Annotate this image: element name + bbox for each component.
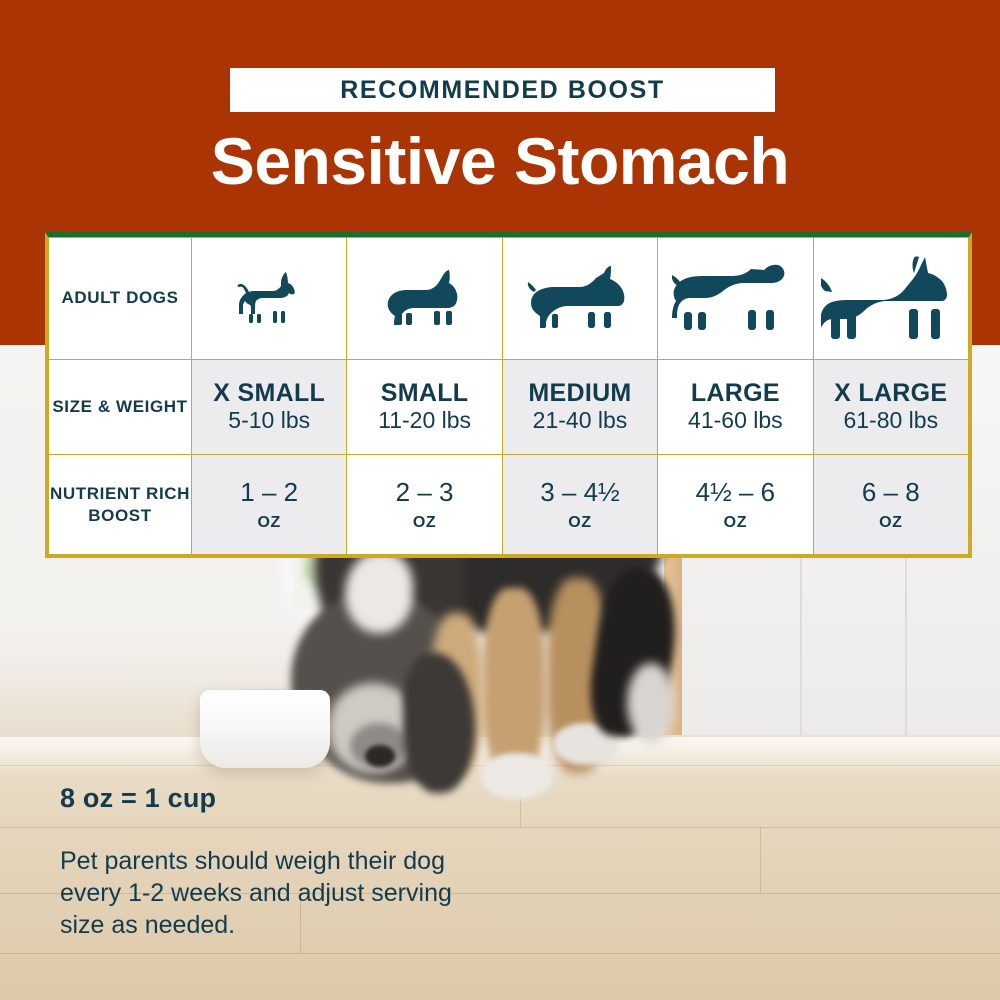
boost-unit: OZ [348, 514, 500, 532]
boost-cell-large: 4½ – 6 OZ [658, 455, 813, 555]
boost-amount: 1 – 2 [193, 478, 345, 507]
feeding-guide-infographic: RECOMMENDED BOOST Sensitive Stomach ADUL… [0, 0, 1000, 1000]
recommended-boost-badge: RECOMMENDED BOOST [230, 68, 775, 112]
table-row-adult-dogs: ADULT DOGS [49, 238, 969, 360]
boost-cell-xsmall: 1 – 2 OZ [192, 455, 347, 555]
size-cell-xsmall: X SMALL 5-10 lbs [192, 360, 347, 455]
size-weight: 11-20 lbs [348, 406, 500, 435]
row-label-nutrient-boost: NUTRIENT RICH BOOST [49, 455, 192, 555]
dog-xsmall-chihuahua-icon [235, 270, 303, 328]
dog-large-labrador-icon [672, 264, 798, 334]
dog-icon-cell-small [347, 238, 502, 360]
boost-unit: OZ [815, 514, 967, 532]
size-weight: 21-40 lbs [504, 406, 656, 435]
dog-icon-cell-xlarge [813, 238, 968, 360]
dog-icon-cell-xsmall [192, 238, 347, 360]
feeding-chart-table: ADULT DOGS [45, 232, 972, 558]
boost-unit: OZ [504, 514, 656, 532]
dog-small-frenchbulldog-icon [384, 269, 466, 329]
dog-icon-cell-medium [502, 238, 657, 360]
size-cell-large: LARGE 41-60 lbs [658, 360, 813, 455]
dog-icon-cell-large [658, 238, 813, 360]
boost-cell-medium: 3 – 4½ OZ [502, 455, 657, 555]
dog-xlarge-greatdane-icon [821, 255, 961, 343]
boost-amount: 6 – 8 [815, 478, 967, 507]
size-weight: 61-80 lbs [815, 406, 967, 435]
row-label-size-weight: SIZE & WEIGHT [49, 360, 192, 455]
boost-cell-small: 2 – 3 OZ [347, 455, 502, 555]
page-title: Sensitive Stomach [0, 128, 1000, 194]
size-cell-small: SMALL 11-20 lbs [347, 360, 502, 455]
boost-amount: 4½ – 6 [659, 478, 811, 507]
badge-label: RECOMMENDED BOOST [340, 76, 664, 105]
size-weight: 41-60 lbs [659, 406, 811, 435]
table-row-size-weight: SIZE & WEIGHT X SMALL 5-10 lbs SMALL 11-… [49, 360, 969, 455]
conversion-note: 8 oz = 1 cup [60, 783, 216, 814]
size-name: MEDIUM [504, 380, 656, 406]
boost-cell-xlarge: 6 – 8 OZ [813, 455, 968, 555]
size-name: X LARGE [815, 380, 967, 406]
boost-unit: OZ [659, 514, 811, 532]
boost-amount: 2 – 3 [348, 478, 500, 507]
boost-unit: OZ [193, 514, 345, 532]
size-weight: 5-10 lbs [193, 406, 345, 435]
dog-medium-terrier-icon [526, 266, 634, 332]
size-name: X SMALL [193, 380, 345, 406]
size-name: LARGE [659, 380, 811, 406]
size-name: SMALL [348, 380, 500, 406]
feeding-advice-note: Pet parents should weigh their dog every… [60, 845, 460, 941]
row-label-adult-dogs: ADULT DOGS [49, 238, 192, 360]
boost-amount: 3 – 4½ [504, 478, 656, 507]
dog-bowl [200, 690, 330, 768]
size-cell-medium: MEDIUM 21-40 lbs [502, 360, 657, 455]
size-cell-xlarge: X LARGE 61-80 lbs [813, 360, 968, 455]
table-row-nutrient-boost: NUTRIENT RICH BOOST 1 – 2 OZ 2 – 3 OZ 3 … [49, 455, 969, 555]
